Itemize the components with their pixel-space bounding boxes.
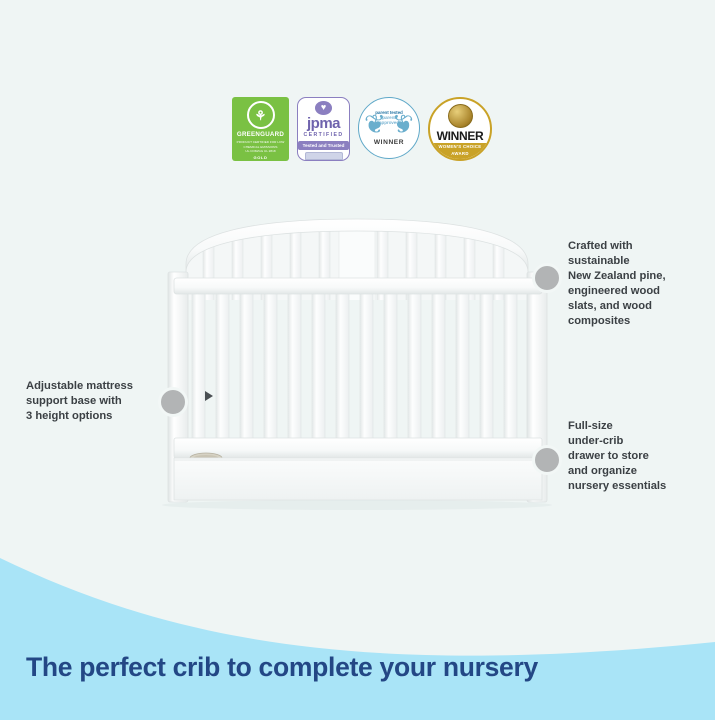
badge-greenguard: ⚘ GREENGUARD PRODUCT CERTIFIED FOR LOW C… [232, 97, 289, 161]
callout-crafted-materials: Crafted with sustainable New Zealand pin… [568, 239, 666, 329]
certification-badges: ⚘ GREENGUARD PRODUCT CERTIFIED FOR LOW C… [232, 97, 492, 161]
womens-choice-award-label: WINNER [437, 130, 484, 142]
under-crib-drawer [174, 458, 542, 500]
crib-lower-rail [174, 438, 542, 458]
ptpa-award-label: WINNER [374, 139, 404, 146]
product-feature-graphic: ⚘ GREENGUARD PRODUCT CERTIFIED FOR LOW C… [0, 0, 715, 720]
womens-choice-sub-line1: WOMEN'S CHOICE [430, 144, 490, 150]
greenguard-name: GREENGUARD [237, 131, 284, 138]
badge-ptpa: ❦ ❦ parent tested parent approved WINNER [358, 97, 420, 159]
callout-marker-drawer [532, 445, 562, 475]
jpma-crib-graphic [305, 152, 343, 160]
badge-jpma: ♥ jpma CERTIFIED Tested and Trusted [297, 97, 350, 161]
crib-headboard [186, 219, 528, 314]
crib-front-top-rail [174, 278, 542, 294]
callout-under-crib-drawer: Full-size under-crib drawer to store and… [568, 419, 666, 494]
jpma-wordmark: jpma [307, 116, 340, 131]
womens-choice-sub-line2: AWARD [430, 151, 490, 157]
badge-womens-choice: WINNER WOMEN'S CHOICE AWARD [428, 97, 492, 161]
callout-marker-mattress-support [158, 387, 188, 417]
jpma-heart-icon: ♥ [315, 101, 332, 115]
greenguard-fine-print: PRODUCT CERTIFIED FOR LOW CHEMICAL EMISS… [236, 140, 286, 154]
jpma-tagline: Tested and Trusted [298, 141, 350, 150]
jpma-certified-label: CERTIFIED [304, 132, 344, 138]
callout-mattress-support: Adjustable mattress support base with 3 … [26, 379, 133, 424]
laurel-right-icon: ❦ [392, 111, 414, 137]
womens-choice-sub: WOMEN'S CHOICE AWARD [430, 143, 490, 159]
laurel-left-icon: ❦ [364, 111, 386, 137]
mattress-height-marker-icon [205, 391, 213, 401]
womens-choice-medal-icon [448, 104, 473, 128]
callout-marker-materials [532, 263, 562, 293]
greenguard-level: GOLD [232, 155, 289, 160]
greenguard-leaf-icon: ⚘ [247, 101, 275, 129]
page-headline: The perfect crib to complete your nurser… [26, 652, 538, 683]
crib-front-slats [192, 292, 517, 440]
